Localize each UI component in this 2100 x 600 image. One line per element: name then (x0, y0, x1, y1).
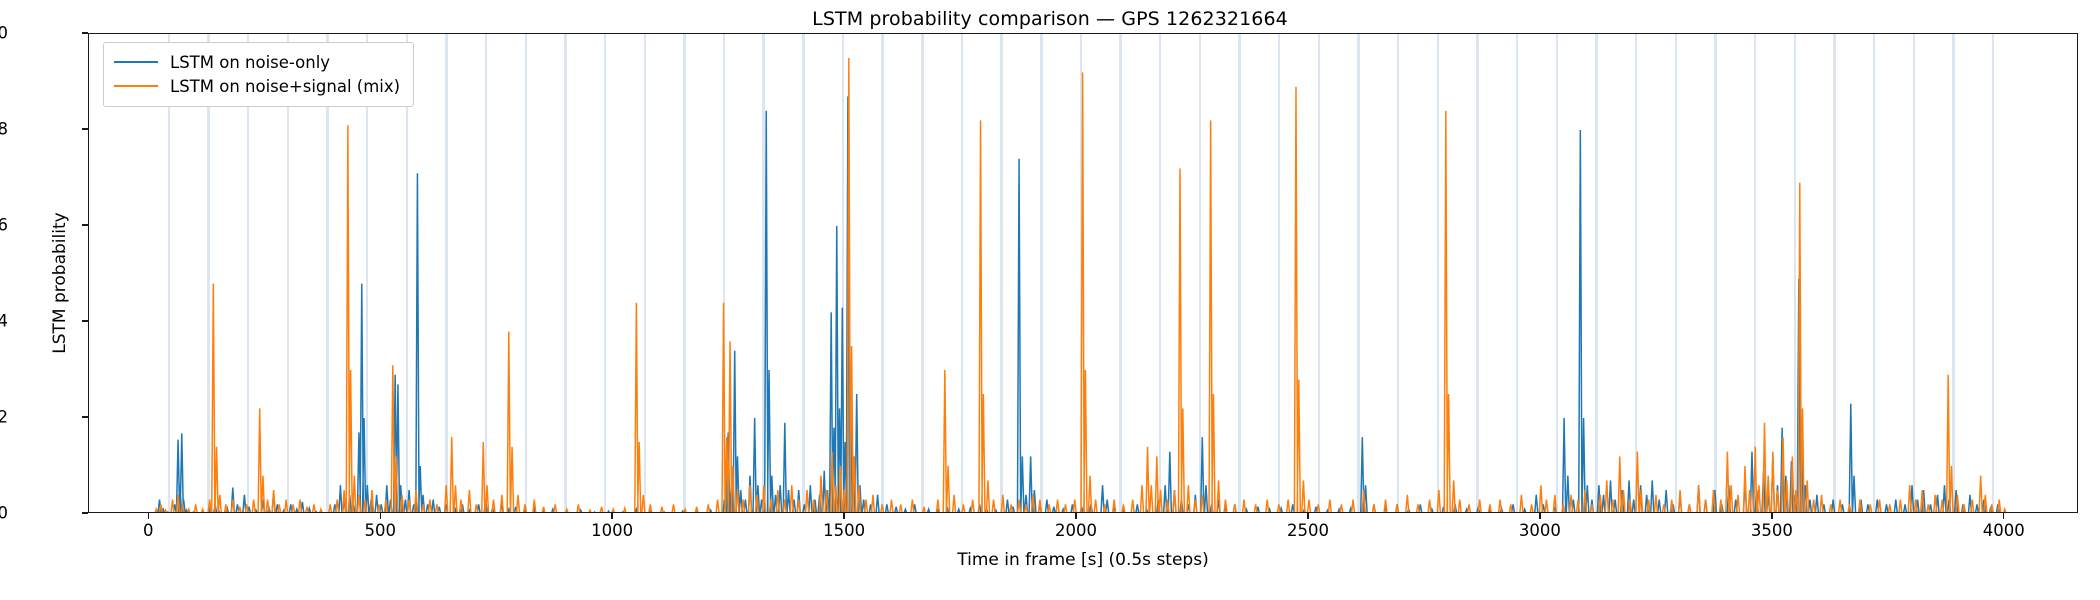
x-tick-label: 2500 (1248, 521, 1368, 540)
series-line-noise-only (91, 96, 2009, 513)
x-tick-mark (1539, 513, 1540, 519)
x-tick-mark (148, 513, 149, 519)
x-tick-label: 0 (88, 521, 208, 540)
figure-canvas: LSTM probability comparison — GPS 126232… (0, 0, 2100, 600)
x-tick-mark (1771, 513, 1772, 519)
y-tick-label: 0.4 (0, 312, 8, 331)
y-tick-mark (82, 128, 88, 129)
y-axis-label: LSTM probability (50, 133, 70, 433)
y-tick-label: 0.8 (0, 120, 8, 139)
y-tick-label: 0.6 (0, 216, 8, 235)
x-tick-mark (1075, 513, 1076, 519)
y-tick-mark (82, 224, 88, 225)
x-tick-label: 500 (320, 521, 440, 540)
x-tick-label: 1500 (784, 521, 904, 540)
legend-item-noise-only[interactable]: LSTM on noise-only (114, 50, 400, 74)
y-tick-mark (82, 320, 88, 321)
y-tick-mark (82, 32, 88, 33)
x-tick-label: 4000 (1944, 521, 2064, 540)
legend-item-noise-signal-mix[interactable]: LSTM on noise+signal (mix) (114, 74, 400, 98)
x-tick-mark (611, 513, 612, 519)
legend-label-noise-only: LSTM on noise-only (170, 53, 330, 72)
x-tick-mark (2003, 513, 2004, 519)
legend-swatch-noise-only (114, 61, 158, 63)
x-tick-mark (843, 513, 844, 519)
y-tick-mark (82, 512, 88, 513)
y-tick-label: 1.0 (0, 24, 8, 43)
y-tick-label: 0.2 (0, 408, 8, 427)
series-line-noise-signal-mix (91, 58, 2009, 513)
legend-swatch-noise-signal-mix (114, 85, 158, 87)
y-tick-label: 0.0 (0, 504, 8, 523)
legend: LSTM on noise-only LSTM on noise+signal … (103, 42, 414, 107)
x-tick-mark (380, 513, 381, 519)
x-tick-label: 2000 (1016, 521, 1136, 540)
x-tick-label: 3500 (1712, 521, 1832, 540)
x-tick-mark (1307, 513, 1308, 519)
x-axis-label: Time in frame [s] (0.5s steps) (88, 550, 2078, 570)
x-tick-label: 1000 (552, 521, 672, 540)
x-tick-label: 3000 (1480, 521, 1600, 540)
y-tick-mark (82, 416, 88, 417)
page-title: LSTM probability comparison — GPS 126232… (0, 8, 2100, 30)
legend-label-noise-signal-mix: LSTM on noise+signal (mix) (170, 77, 400, 96)
